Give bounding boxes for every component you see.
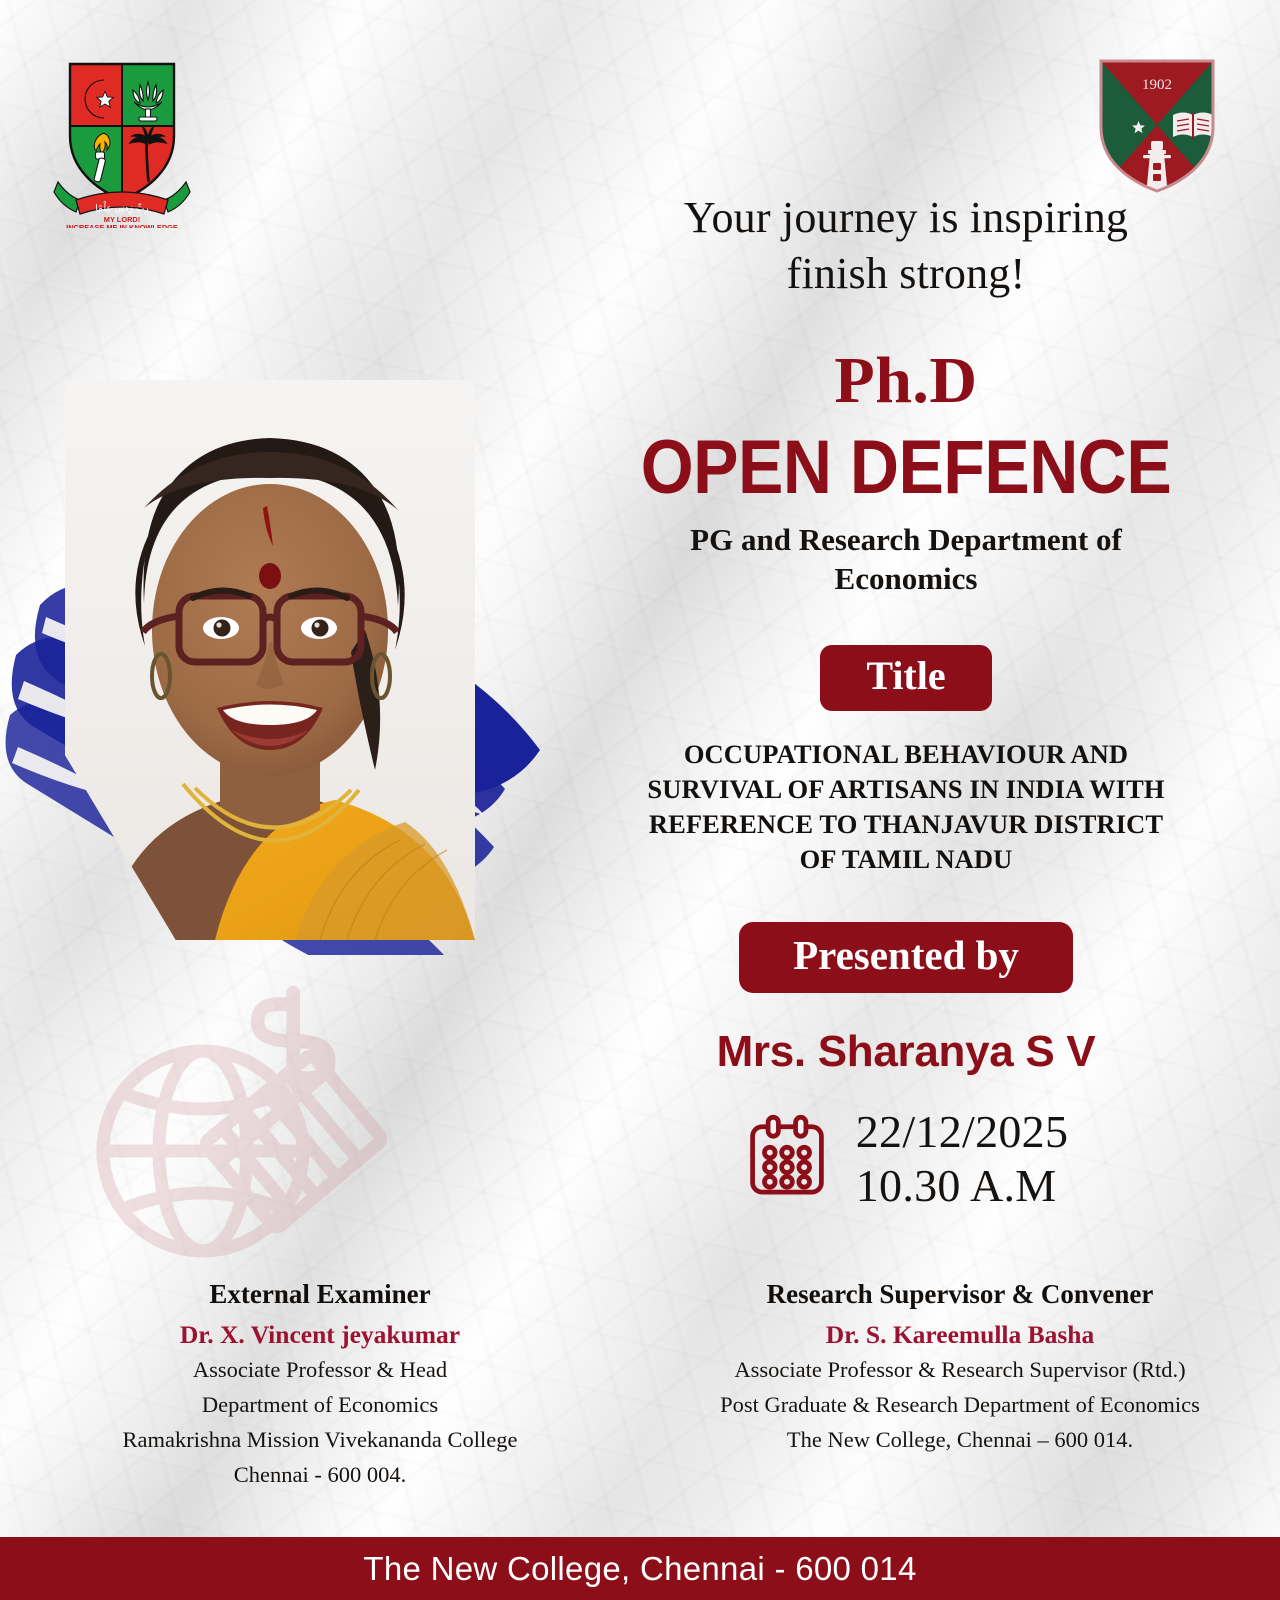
presented-by-badge: Presented by	[739, 922, 1073, 993]
external-examiner-detail: Department of Economics	[18, 1389, 622, 1421]
thesis-title-line: OCCUPATIONAL BEHAVIOUR AND	[576, 737, 1236, 772]
research-supervisor-column: Research Supervisor & Convener Dr. S. Ka…	[640, 1278, 1280, 1491]
examiner-section: External Examiner Dr. X. Vincent jeyakum…	[0, 1278, 1280, 1491]
svg-text:ربِّ زِدنِي عِلْمًا: ربِّ زِدنِي عِلْمًا	[95, 201, 148, 215]
tagline-line-1: Your journey is inspiring	[576, 190, 1236, 246]
external-examiner-column: External Examiner Dr. X. Vincent jeyakum…	[0, 1278, 640, 1491]
university-crest-logo: ربِّ زِدنِي عِلْمًا MY LORD! INCREASE ME…	[42, 58, 202, 228]
tagline-line-2: finish strong!	[576, 246, 1236, 302]
new-college-shield-logo: 1902	[1093, 55, 1221, 195]
external-examiner-role: External Examiner	[18, 1278, 622, 1310]
poster-canvas: ربِّ زِدنِي عِلْمًا MY LORD! INCREASE ME…	[0, 0, 1280, 1600]
department-line-1: PG and Research Department of	[576, 521, 1236, 560]
external-examiner-detail: Ramakrishna Mission Vivekananda College	[18, 1424, 622, 1456]
research-supervisor-detail: Associate Professor & Research Superviso…	[658, 1354, 1262, 1386]
research-supervisor-detail: The New College, Chennai – 600 014.	[658, 1424, 1262, 1456]
external-examiner-detail: Chennai - 600 004.	[18, 1459, 622, 1491]
thesis-title-line: SURVIVAL OF ARTISANS IN INDIA WITH	[576, 772, 1236, 807]
external-examiner-detail: Associate Professor & Head	[18, 1354, 622, 1386]
thesis-title-line: REFERENCE TO THANJAVUR DISTRICT	[576, 807, 1236, 842]
thesis-title-line: OF TAMIL NADU	[576, 842, 1236, 877]
footer-bar: The New College, Chennai - 600 014	[0, 1537, 1280, 1600]
research-supervisor-detail: Post Graduate & Research Department of E…	[658, 1389, 1262, 1421]
degree-heading: Ph.D	[576, 348, 1236, 414]
presenter-portrait-block	[0, 355, 560, 955]
globe-bank-dollar-watermark-icon	[85, 965, 405, 1265]
founding-year: 1902	[1142, 77, 1172, 93]
calendar-icon	[744, 1113, 830, 1204]
thesis-title: OCCUPATIONAL BEHAVIOUR AND SURVIVAL OF A…	[576, 737, 1236, 878]
date-time-text: 22/12/2025 10.30 A.M	[856, 1105, 1069, 1214]
research-supervisor-name: Dr. S. Kareemulla Basha	[658, 1320, 1262, 1351]
research-supervisor-role: Research Supervisor & Convener	[658, 1278, 1262, 1310]
footer-text: The New College, Chennai - 600 014	[363, 1550, 916, 1588]
event-time: 10.30 A.M	[856, 1159, 1069, 1213]
external-examiner-name: Dr. X. Vincent jeyakumar	[18, 1320, 622, 1351]
department-text: PG and Research Department of Economics	[576, 521, 1236, 599]
presenter-photo	[65, 380, 475, 940]
presenter-name: Mrs. Sharanya S V	[576, 1027, 1236, 1077]
date-time-row: 22/12/2025 10.30 A.M	[576, 1105, 1236, 1214]
department-line-2: Economics	[576, 560, 1236, 599]
event-date: 22/12/2025	[856, 1105, 1069, 1159]
presented-by-pill-wrapper: Presented by	[576, 922, 1236, 993]
motto-line2: INCREASE ME IN KNOWLEDGE	[66, 223, 178, 228]
event-heading: OPEN DEFENCE	[576, 428, 1236, 508]
title-badge: Title	[820, 645, 991, 711]
title-pill-wrapper: Title	[576, 645, 1236, 711]
main-content-column: Your journey is inspiring finish strong!…	[576, 190, 1236, 1213]
tagline: Your journey is inspiring finish strong!	[576, 190, 1236, 302]
